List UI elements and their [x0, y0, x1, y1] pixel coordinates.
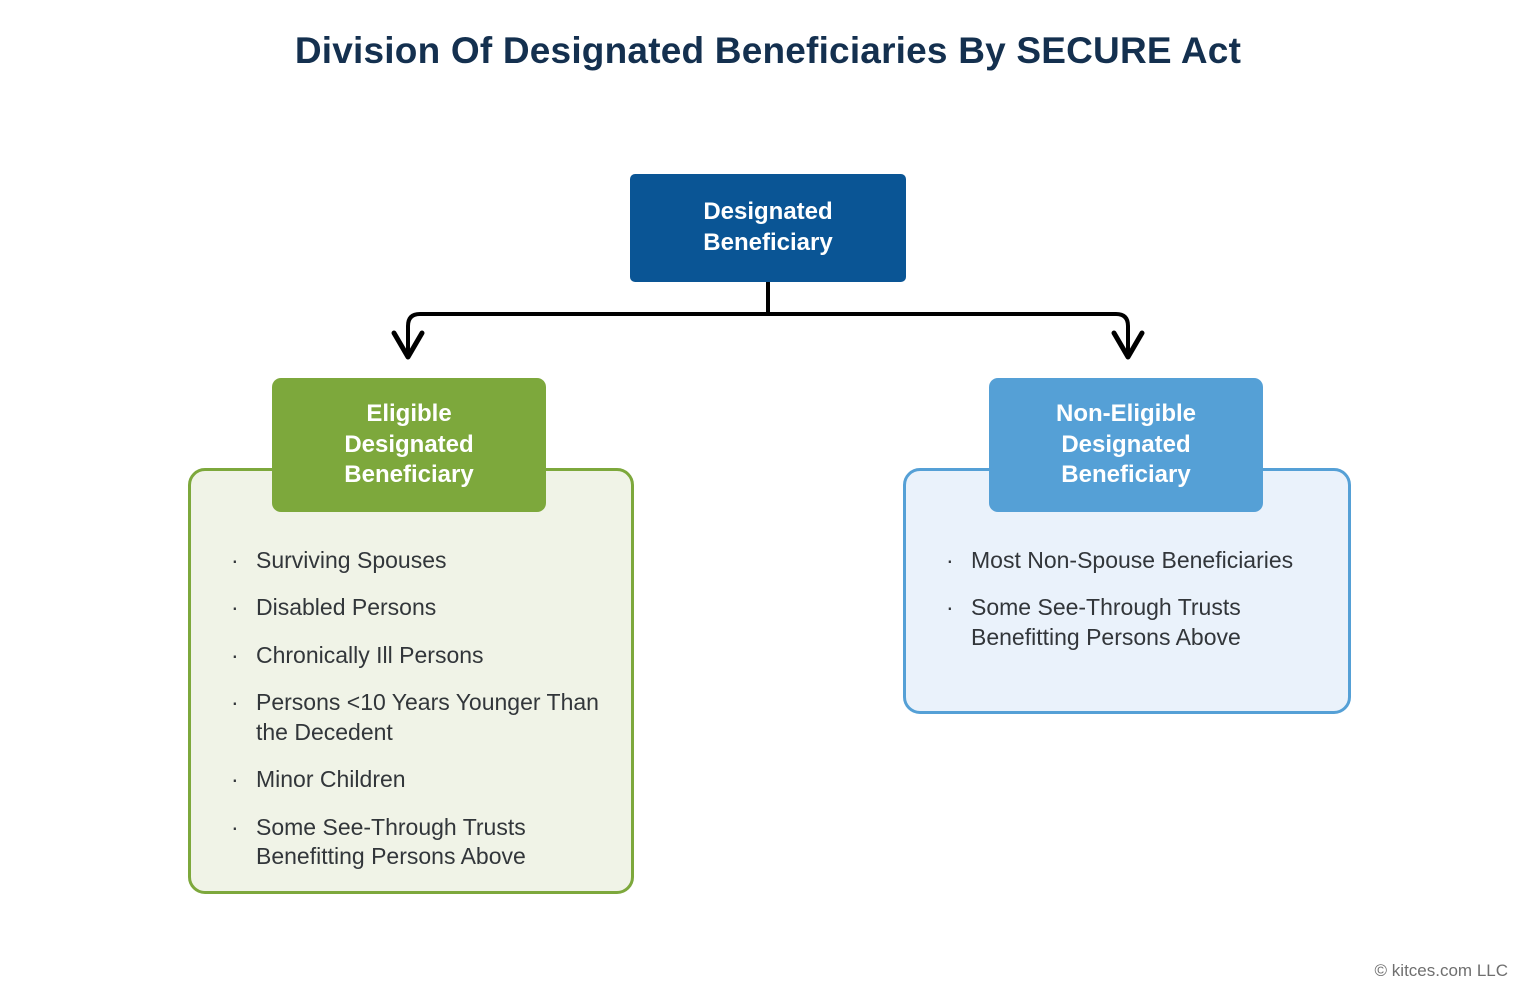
- footer-credit: © kitces.com LLC: [1375, 961, 1508, 981]
- page-title: Division Of Designated Beneficiaries By …: [0, 30, 1536, 72]
- bullet-dot-icon: ·: [231, 641, 239, 670]
- list-item: · Persons <10 Years Younger Than the Dec…: [228, 688, 618, 747]
- list-item: · Some See-Through Trusts Benefitting Pe…: [228, 813, 618, 872]
- node-non-eligible-designated-beneficiary-label: Non-Eligible Designated Beneficiary: [1056, 399, 1196, 490]
- bullet-dot-icon: ·: [231, 546, 239, 575]
- list-item: · Surviving Spouses: [228, 546, 618, 575]
- list-item-label: Most Non-Spouse Beneficiaries: [971, 547, 1293, 573]
- bullet-dot-icon: ·: [946, 546, 954, 575]
- node-eligible-designated-beneficiary-label: Eligible Designated Beneficiary: [344, 399, 473, 490]
- list-item-label: Persons <10 Years Younger Than the Deced…: [256, 689, 599, 744]
- list-item-label: Minor Children: [256, 766, 406, 792]
- node-eligible-designated-beneficiary[interactable]: Eligible Designated Beneficiary: [272, 378, 546, 512]
- list-item-label: Some See-Through Trusts Benefitting Pers…: [256, 814, 526, 869]
- node-designated-beneficiary-label: Designated Beneficiary: [703, 197, 832, 258]
- list-item: · Some See-Through Trusts Benefitting Pe…: [943, 593, 1323, 652]
- bullet-dot-icon: ·: [231, 593, 239, 622]
- bullet-dot-icon: ·: [231, 765, 239, 794]
- list-item: · Most Non-Spouse Beneficiaries: [943, 546, 1323, 575]
- connector-bus: [408, 314, 1128, 342]
- list-non-eligible-designated-beneficiary: · Most Non-Spouse Beneficiaries · Some S…: [943, 546, 1323, 670]
- list-item-label: Some See-Through Trusts Benefitting Pers…: [971, 594, 1241, 649]
- list-item: · Minor Children: [228, 765, 618, 794]
- node-designated-beneficiary[interactable]: Designated Beneficiary: [630, 174, 906, 282]
- list-item-label: Surviving Spouses: [256, 547, 447, 573]
- bullet-dot-icon: ·: [231, 688, 239, 717]
- list-item-label: Chronically Ill Persons: [256, 642, 484, 668]
- list-item: · Chronically Ill Persons: [228, 641, 618, 670]
- arrow-head-left-icon: [394, 333, 422, 357]
- list-item: · Disabled Persons: [228, 593, 618, 622]
- arrow-head-right-icon: [1114, 333, 1142, 357]
- list-eligible-designated-beneficiary: · Surviving Spouses · Disabled Persons ·…: [228, 546, 618, 890]
- bullet-dot-icon: ·: [231, 813, 239, 842]
- list-item-label: Disabled Persons: [256, 594, 436, 620]
- bullet-dot-icon: ·: [946, 593, 954, 622]
- node-non-eligible-designated-beneficiary[interactable]: Non-Eligible Designated Beneficiary: [989, 378, 1263, 512]
